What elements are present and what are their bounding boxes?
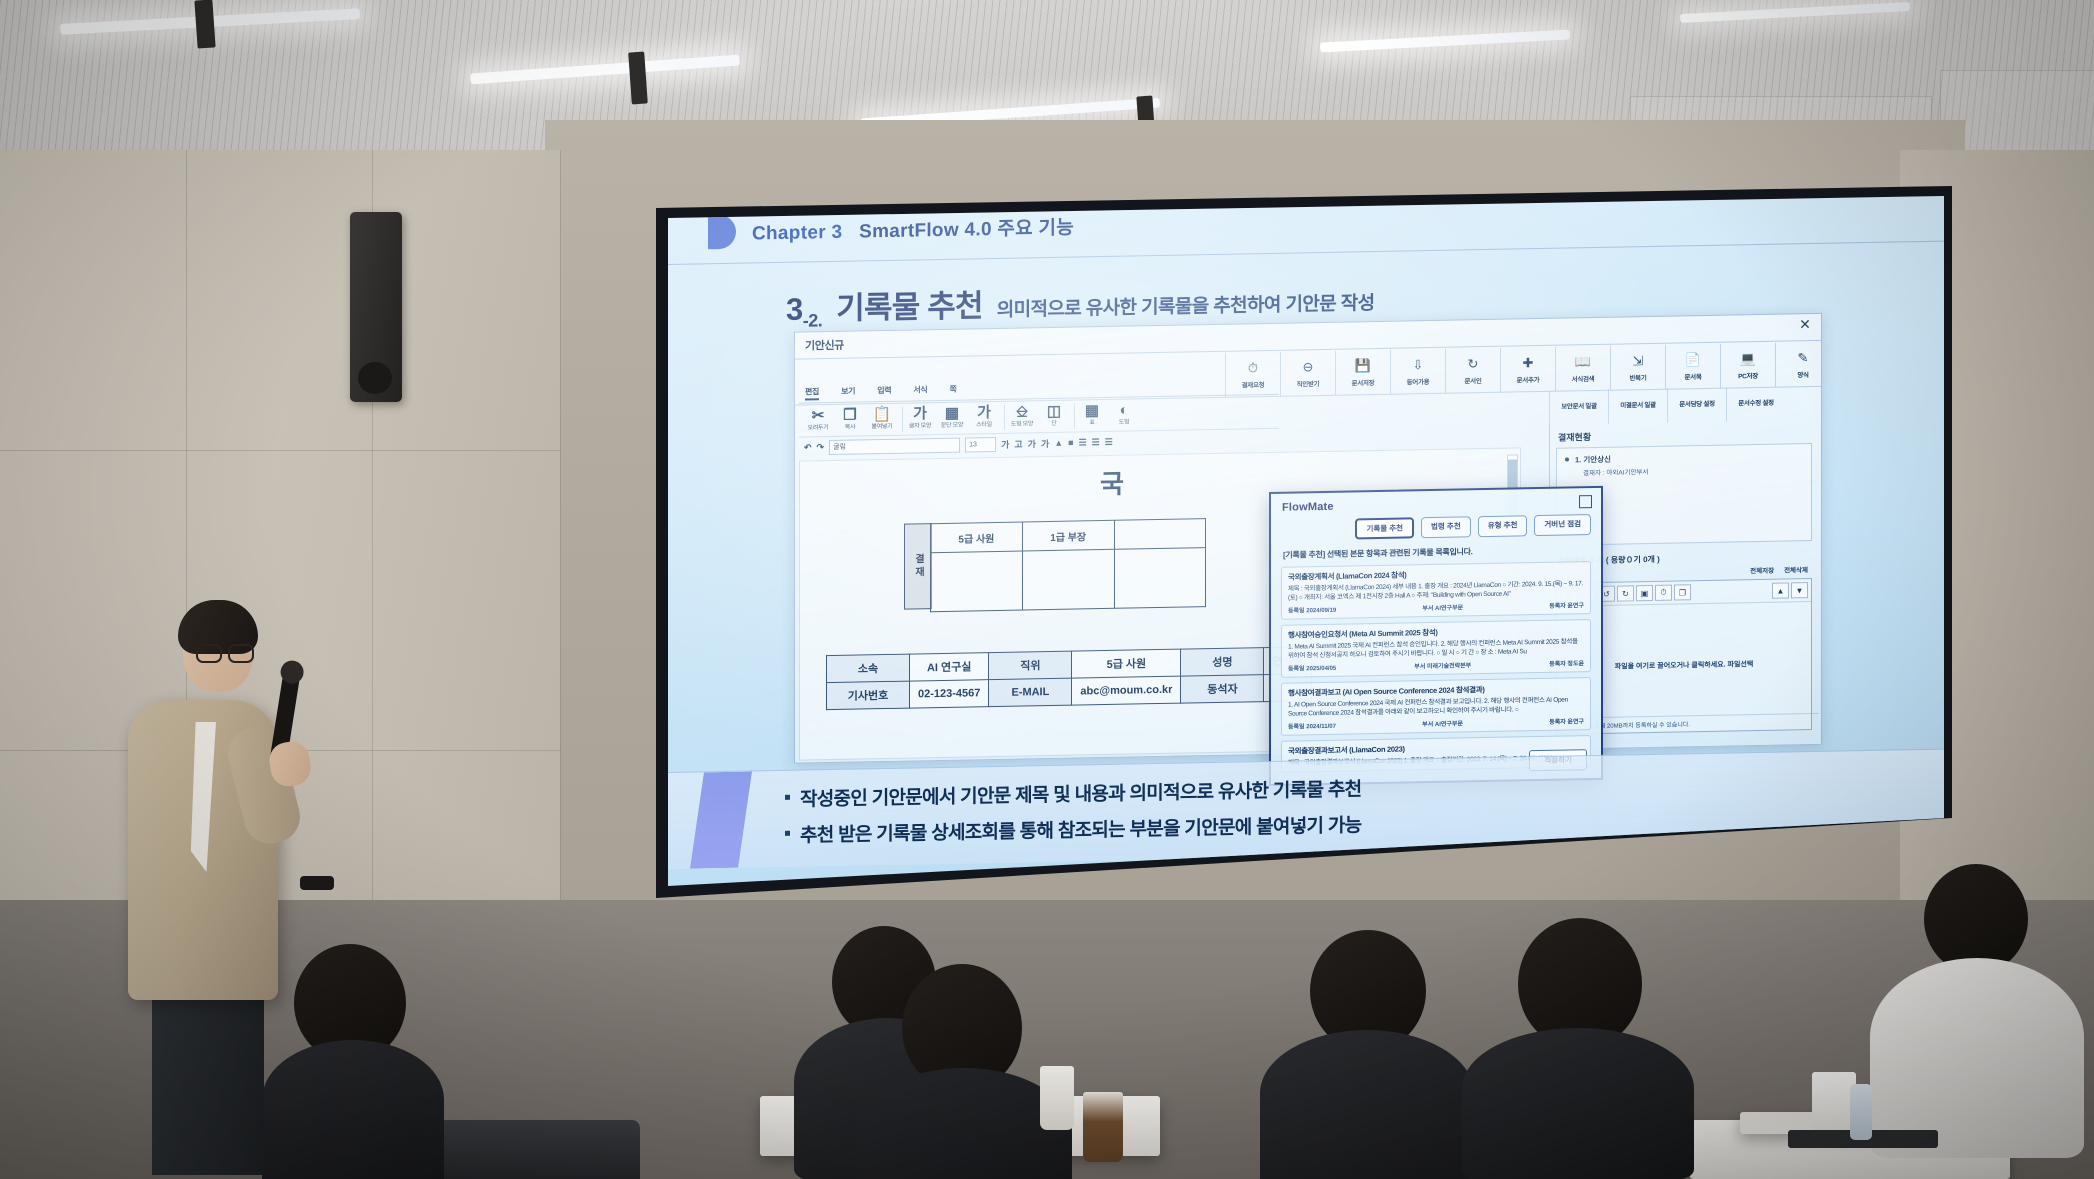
toolbar-label: PC저장 (1738, 370, 1758, 380)
ribbon-tab-edit[interactable]: 편집 (805, 386, 819, 400)
presenter-shirt (182, 722, 216, 872)
ribbon-tool-copy[interactable]: ❐복사 (835, 407, 865, 432)
section-number: 3-2. (786, 291, 822, 332)
section-number-sub: -2. (803, 310, 823, 330)
projection-screen: Chapter 3 SmartFlow 4.0 주요 기능 3-2. 기록물 추… (668, 196, 1944, 886)
font-name-select[interactable]: 굴림 (829, 437, 960, 454)
info-value: 02-123-4567 (910, 680, 989, 708)
approval-block: 결재 5급 사원 1급 부장 (904, 518, 1206, 524)
shape-icon: ⎒ (1016, 404, 1028, 419)
toolbar-label: 문서추가 (1517, 374, 1540, 384)
toolbar-label: 등어가용 (1407, 376, 1430, 386)
ribbon-tool-column[interactable]: ◫단 (1039, 404, 1069, 429)
result-date: 등록일 2024/09/19 (1288, 605, 1336, 615)
result-body: 1. Meta AI Summit 2025 국제 AI 컨퍼런스 참석 승인입… (1288, 637, 1584, 661)
ribbon-tool-label: 붙여넣기 (872, 424, 893, 432)
toolbar2-button-1[interactable]: 미결문서 일괄 (1608, 389, 1667, 424)
approval-label: 결재 (904, 523, 932, 610)
toolbar-label: 양식 (1797, 369, 1808, 379)
toolbar-label: 서식검색 (1572, 373, 1595, 383)
italic-icon[interactable]: 고 (1014, 437, 1022, 450)
ribbon-tab-view[interactable]: 보기 (841, 386, 855, 400)
info-value: 5급 사원 (1072, 649, 1181, 678)
result-author: 등록자 윤연구 (1549, 716, 1584, 726)
toolbar-label: 문서저장 (1352, 377, 1375, 387)
chapter-prefix: Chapter 3 (752, 221, 842, 244)
toolbar-button-5[interactable]: ✚문서추가 (1500, 347, 1555, 392)
document-watermark: 국 (1100, 464, 1126, 501)
export-icon: ⇲ (1630, 353, 1646, 369)
table-icon: ▦ (1085, 403, 1099, 418)
toolbar-label: 반복기 (1629, 372, 1646, 382)
column-icon: ◫ (1047, 404, 1061, 419)
section-number-main: 3 (786, 292, 803, 327)
book-icon: 📖 (1575, 354, 1591, 370)
ribbon-tool-cut[interactable]: ✂오려두기 (803, 408, 833, 433)
ribbon-tab-format[interactable]: 서식 (913, 384, 927, 398)
toolbar-label: 직인받기 (1297, 378, 1320, 388)
underline-icon[interactable]: 가 (1028, 437, 1036, 450)
chevron-up-icon[interactable]: ▲ (1772, 582, 1789, 598)
toolbar-button-3[interactable]: ⇩등어가용 (1390, 349, 1445, 394)
ribbon-tool-label: 오려두기 (808, 425, 829, 433)
style-icon: 가 (977, 405, 991, 420)
result-dept: 부서 AI연구부문 (1422, 602, 1463, 612)
toolbar2-button-0[interactable]: 보안문서 일괄 (1549, 390, 1608, 425)
toolbar-label: 문서목 (1684, 371, 1701, 381)
ribbon-tool-font[interactable]: 가글자 모양 (905, 406, 935, 431)
presenter-clicker (300, 876, 334, 890)
toolbar-button-1[interactable]: ⊖직인받기 (1280, 351, 1335, 396)
highlight-icon[interactable]: ▲ (1054, 438, 1063, 448)
document-info-table: 소속 AI 연구실 직위 5급 사원 성명 연사원 기사번호 02-123-45… (826, 646, 1312, 710)
toolbar-button-7[interactable]: ⇲반복기 (1610, 345, 1665, 390)
toolbar-button-4[interactable]: ↻문서인 (1445, 348, 1500, 393)
wall-tile (372, 450, 561, 751)
ribbon-group-shape: ⎒도형 모양 ◫단 (1007, 404, 1075, 430)
coffee-cup (1083, 1092, 1123, 1162)
toolbar-button-6[interactable]: 📖서식검색 (1555, 346, 1610, 391)
toolbar-button-2[interactable]: 💾문서저장 (1335, 350, 1390, 395)
save-icon: 💾 (1355, 358, 1371, 374)
glasses-lens-left (196, 644, 222, 663)
ribbon-tool-label: 복사 (845, 425, 855, 433)
refresh-icon[interactable]: ↻ (1617, 585, 1634, 601)
ribbon-group-font: 가글자 모양 ▦문단 모양 가스타일 (905, 405, 1005, 431)
ribbon-tab-page[interactable]: 쪽 (950, 384, 957, 398)
font-size-select[interactable]: 13 (965, 436, 996, 452)
ribbon-group-clipboard: ✂오려두기 ❐복사 📋붙여넣기 (803, 407, 903, 433)
audience-body (262, 1040, 444, 1179)
close-icon[interactable]: ✕ (1798, 318, 1812, 332)
result-dept: 부서 미래기술전략본부 (1414, 660, 1471, 670)
minus-circle-icon: ⊖ (1300, 359, 1316, 375)
paste-icon: 📋 (873, 407, 892, 422)
result-body: 1. AI Open Source Conference 2024 국제 AI … (1288, 695, 1584, 719)
presenter-legs (152, 985, 264, 1175)
info-key: E-MAIL (989, 678, 1072, 707)
cut-icon: ✂ (812, 408, 825, 423)
attachment-save-all-button[interactable]: 전체저장 (1750, 565, 1774, 575)
align-left-icon[interactable]: ☰ (1079, 437, 1087, 448)
toolbar-button-9[interactable]: 💻PC저장 (1720, 343, 1775, 388)
chart-icon: ◐ (1119, 403, 1128, 418)
approval-cell: 5급 사원 (931, 522, 1023, 553)
toolbar2-label: 보안문서 일괄 (1561, 403, 1597, 412)
align-center-icon[interactable]: ☰ (1092, 437, 1100, 448)
info-key: 기사번호 (827, 681, 910, 710)
approval-sign-cell (931, 551, 1023, 612)
list-item[interactable]: 국외출장계획서 (LlamaCon 2024 참석) 제목 : 국외출장계획서 … (1281, 561, 1591, 620)
ribbon-tab-input[interactable]: 입력 (877, 385, 891, 399)
ribbon-tool-paragraph[interactable]: ▦문단 모양 (937, 406, 967, 431)
ribbon-tool-chart[interactable]: ◐도형 (1109, 402, 1139, 427)
info-key: 직위 (989, 651, 1072, 680)
flowmate-result-list: 국외출장계획서 (LlamaCon 2024 참석) 제목 : 국외출장계획서 … (1271, 561, 1601, 773)
ribbon-tool-shape[interactable]: ⎒도형 모양 (1007, 404, 1037, 429)
info-value: AI 연구실 (910, 653, 989, 681)
ribbon-tool-label: 단 (1051, 421, 1056, 429)
ribbon-tool-label: 글자 모양 (909, 423, 931, 431)
flowmate-logo: FlowMate (1282, 500, 1334, 513)
tab-record-recommendation[interactable]: 기록물 추천 (1355, 517, 1414, 539)
flowmate-dialog[interactable]: FlowMate 기록물 추천 법령 추천 유형 추천 거버넌 점검 [기록물 … (1269, 486, 1603, 786)
attachment-delete-all-button[interactable]: 전체삭제 (1784, 564, 1808, 574)
undo-icon[interactable]: ↶ (804, 442, 812, 453)
chevron-down-icon[interactable]: ▼ (1791, 582, 1808, 598)
approval-sign-cell (1022, 549, 1114, 610)
tab-governance-check[interactable]: 거버넌 점검 (1534, 514, 1591, 536)
ribbon-tool-table[interactable]: ▦표 (1077, 403, 1107, 428)
download-icon: ⇩ (1410, 357, 1426, 373)
word-processor-ribbon: 편집 보기 입력 서식 쪽 ✂오려두기 ❐복사 📋붙여넣기 가글자 (799, 378, 1279, 458)
refresh-icon: ↻ (1465, 356, 1481, 372)
minimize-icon[interactable] (1579, 495, 1592, 508)
result-date: 등록일 2024/11/07 (1288, 720, 1336, 730)
list-item[interactable]: 행사참여결과보고 (AI Open Source Conference 2024… (1281, 677, 1591, 736)
plus-icon: ✚ (1520, 355, 1536, 371)
clock-icon: ⏱ (1245, 360, 1261, 376)
wall-speaker (350, 212, 402, 402)
approval-sign-cell (1114, 548, 1205, 609)
info-key: 성명 (1181, 648, 1264, 677)
chapter-accent-shape (708, 215, 736, 250)
list-item[interactable]: 행사참여승인요청서 (Meta AI Summit 2025 참석) 1. Me… (1281, 619, 1591, 678)
clock-icon[interactable]: ⏱ (1655, 585, 1672, 601)
ribbon-tool-label: 문단 모양 (941, 423, 963, 431)
section-title: 기록물 추천 (836, 280, 982, 328)
toolbar2-label: 문서수정 설정 (1738, 399, 1774, 408)
result-author: 등록자 정도윤 (1549, 658, 1584, 668)
info-key: 동석자 (1181, 675, 1264, 704)
ribbon-tool-label: 도형 모양 (1011, 421, 1033, 429)
wall-tile (186, 150, 373, 451)
tab-law-recommendation[interactable]: 법령 추천 (1421, 516, 1471, 538)
monitor-icon: 💻 (1740, 351, 1756, 367)
chapter-title: SmartFlow 4.0 주요 기능 (859, 217, 1074, 242)
info-value: abc@moum.co.kr (1072, 676, 1181, 705)
pen-icon: ✎ (1795, 350, 1811, 366)
attachment-nav: ▲ ▼ (1772, 582, 1808, 599)
approval-cell: 1급 부장 (1022, 520, 1114, 551)
presentation-slide: Chapter 3 SmartFlow 4.0 주요 기능 3-2. 기록물 추… (668, 196, 1944, 886)
room-photo: Chapter 3 SmartFlow 4.0 주요 기능 3-2. 기록물 추… (0, 0, 2094, 1179)
ceiling-rail (194, 0, 215, 49)
glasses-lens-right (228, 644, 254, 663)
info-key: 소속 (827, 654, 910, 683)
image-icon[interactable]: ▣ (1636, 585, 1653, 601)
app-toolbar-secondary: 보안문서 일괄 미결문서 일괄 문서담당 설정 문서수정 설정 (1549, 387, 1785, 425)
doc-icon: 📄 (1685, 352, 1701, 368)
coffee-cup (1040, 1066, 1074, 1130)
ribbon-tool-label: 스타일 (976, 422, 992, 430)
audience-body (1260, 1030, 1474, 1179)
application-window-mock: 기안신규 ✕ ⏱결재요청 ⊖직인받기 💾문서저장 ⇩등어가용 ↻문서인 ✚문서추… (794, 313, 1822, 764)
ribbon-tool-label: 표 (1089, 420, 1094, 428)
toolbar2-label: 문서담당 설정 (1679, 400, 1715, 409)
ribbon-tool-paste[interactable]: 📋붙여넣기 (867, 407, 897, 432)
result-dept: 부서 AI연구부문 (1422, 718, 1463, 728)
ribbon-tool-label: 도형 (1119, 420, 1129, 428)
bold-icon[interactable]: 가 (1001, 437, 1009, 450)
toolbar-label: 문서인 (1464, 375, 1481, 385)
toolbar-button-8[interactable]: 📄문서목 (1665, 344, 1720, 389)
section-description: 의미적으로 유사한 기록물을 추천하여 기안문 작성 (997, 288, 1375, 322)
water-bottle (1850, 1084, 1872, 1140)
glasses-icon (196, 644, 252, 660)
copy-icon: ❐ (843, 408, 856, 423)
result-body: 제목 : 국외출장계획서 (LlamaCon 2024) 세부 내용 1. 출장… (1288, 579, 1584, 603)
toolbar2-label: 미결문서 일괄 (1620, 402, 1656, 411)
copy-icon[interactable]: ❐ (1674, 584, 1691, 600)
approval-cell (1114, 519, 1205, 550)
app-tab-label[interactable]: 기안신규 (805, 337, 844, 354)
result-date: 등록일 2025/04/05 (1288, 662, 1336, 672)
table-row (931, 548, 1206, 612)
chapter-heading: Chapter 3 SmartFlow 4.0 주요 기능 (752, 212, 1074, 245)
toolbar2-button-2[interactable]: 문서담당 설정 (1667, 388, 1726, 423)
approval-table: 5급 사원 1급 부장 (930, 518, 1206, 612)
tab-type-recommendation[interactable]: 유형 추천 (1478, 515, 1528, 537)
paragraph-icon: ▦ (945, 406, 959, 421)
audience-body (1462, 1028, 1694, 1179)
wall-tile (0, 150, 187, 451)
strike-icon[interactable]: 가 (1041, 437, 1049, 450)
audience-body (1870, 958, 2084, 1158)
font-icon: 가 (913, 406, 927, 421)
text-color-icon[interactable]: ■ (1068, 438, 1073, 448)
align-right-icon[interactable]: ☰ (1105, 436, 1113, 447)
toolbar2-button-3[interactable]: 문서수정 설정 (1726, 387, 1785, 422)
ribbon-group-table: ▦표 ◐도형 (1077, 402, 1144, 428)
ribbon-tool-style[interactable]: 가스타일 (969, 405, 999, 430)
result-author: 등록자 윤연구 (1549, 600, 1584, 610)
toolbar-button-10[interactable]: ✎양식 (1775, 342, 1830, 387)
redo-icon[interactable]: ↷ (817, 442, 825, 453)
